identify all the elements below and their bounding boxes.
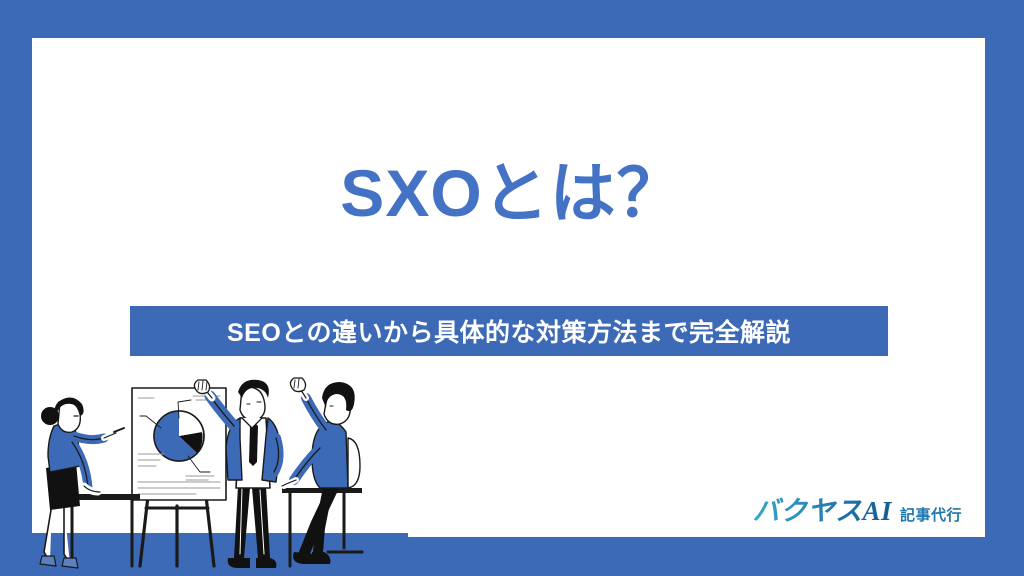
business-team-illustration <box>28 376 408 576</box>
subtitle-band: SEOとの違いから具体的な対策方法まで完全解説 <box>130 306 888 356</box>
slide-canvas: SXOとは？ SEOとの違いから具体的な対策方法まで完全解説 バクヤスAI 記事… <box>0 0 1024 576</box>
brand-logo: バクヤスAI 記事代行 <box>752 489 962 528</box>
page-title: SXOとは？ <box>0 160 1024 226</box>
brand-logo-tagline: 記事代行 <box>900 504 962 525</box>
illustration-floor <box>28 533 408 576</box>
brand-logo-name: バクヤスAI <box>752 489 892 528</box>
subtitle-text: SEOとの違いから具体的な対策方法まで完全解説 <box>227 313 791 349</box>
